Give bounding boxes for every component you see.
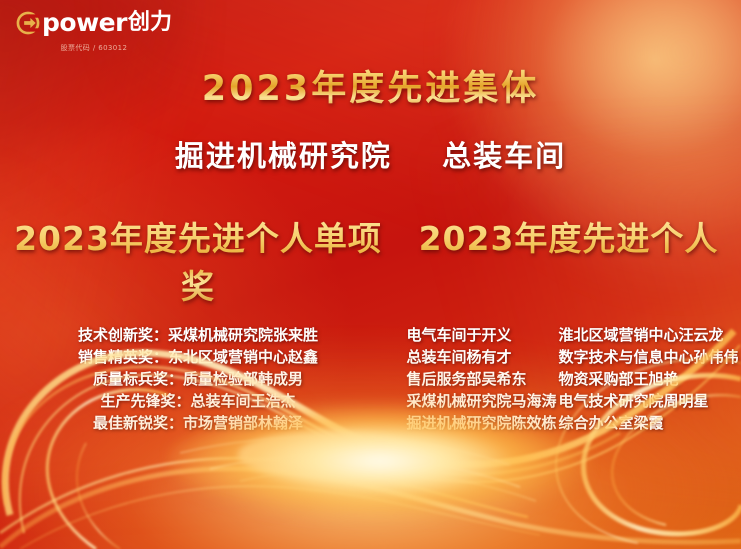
list-item: 最佳新锐奖：市场营销部林翰泽	[0, 412, 396, 434]
section-headings: 2023年度先进个人单项奖 2023年度先进个人	[0, 212, 741, 308]
section-heading-individual: 2023年度先进个人	[396, 212, 741, 308]
list-item-name-left: 总装车间杨有才	[407, 346, 559, 368]
list-item: 掘进机械研究院陈效栋 综合办公室梁霞	[396, 412, 741, 434]
subtitle-team-2: 总装车间	[442, 139, 566, 173]
list-item-name-left: 掘进机械研究院陈效栋	[407, 412, 559, 434]
list-item-name-right: 综合办公室梁霞	[559, 412, 731, 434]
award-poster: power 创力 股票代码 / 603012 2023年度先进集体 掘进机械研究…	[0, 0, 741, 549]
list-item-name-left: 售后服务部吴希东	[407, 368, 559, 390]
logo-wordmark-cn: 创力	[128, 10, 172, 36]
list-item: 生产先锋奖：总装车间王浩杰	[0, 390, 396, 412]
special-award-list: 技术创新奖：采煤机械研究院张来胜 销售精英奖：东北区域营销中心赵鑫 质量标兵奖：…	[0, 324, 396, 434]
subtitle-team-1: 掘进机械研究院	[175, 139, 392, 173]
list-item: 质量标兵奖：质量检验部韩成男	[0, 368, 396, 390]
page-title: 2023年度先进集体	[0, 60, 741, 111]
list-item-name-left: 电气车间于开义	[407, 324, 559, 346]
logo-wordmark: power	[42, 10, 127, 36]
list-item: 电气车间于开义 淮北区域营销中心汪云龙	[396, 324, 741, 346]
list-item-name-right: 数字技术与信息中心孙伟伟	[559, 346, 731, 368]
list-item: 采煤机械研究院马海涛 电气技术研究院周明星	[396, 390, 741, 412]
list-item-name-right: 淮北区域营销中心汪云龙	[559, 324, 731, 346]
brand-logo: power 创力 股票代码 / 603012	[16, 10, 172, 53]
award-sections: 2023年度先进个人单项奖 2023年度先进个人 技术创新奖：采煤机械研究院张来…	[0, 212, 741, 434]
individual-award-list: 电气车间于开义 淮北区域营销中心汪云龙 总装车间杨有才 数字技术与信息中心孙伟伟…	[396, 324, 741, 434]
stock-code-label: 股票代码 / 603012	[61, 43, 128, 53]
logo-row: power 创力	[16, 10, 172, 36]
c-arrow-logo-icon	[16, 11, 40, 35]
subtitle: 掘进机械研究院 总装车间	[0, 133, 741, 175]
list-item-name-left: 采煤机械研究院马海涛	[407, 390, 559, 412]
section-bodies: 技术创新奖：采煤机械研究院张来胜 销售精英奖：东北区域营销中心赵鑫 质量标兵奖：…	[0, 324, 741, 434]
list-item: 技术创新奖：采煤机械研究院张来胜	[0, 324, 396, 346]
list-item: 销售精英奖：东北区域营销中心赵鑫	[0, 346, 396, 368]
silk-fold-decoration	[120, 0, 480, 240]
list-item-name-right: 电气技术研究院周明星	[559, 390, 731, 412]
section-heading-individual-special: 2023年度先进个人单项奖	[0, 212, 396, 308]
list-item: 总装车间杨有才 数字技术与信息中心孙伟伟	[396, 346, 741, 368]
list-item: 售后服务部吴希东 物资采购部王旭艳	[396, 368, 741, 390]
list-item-name-right: 物资采购部王旭艳	[559, 368, 731, 390]
